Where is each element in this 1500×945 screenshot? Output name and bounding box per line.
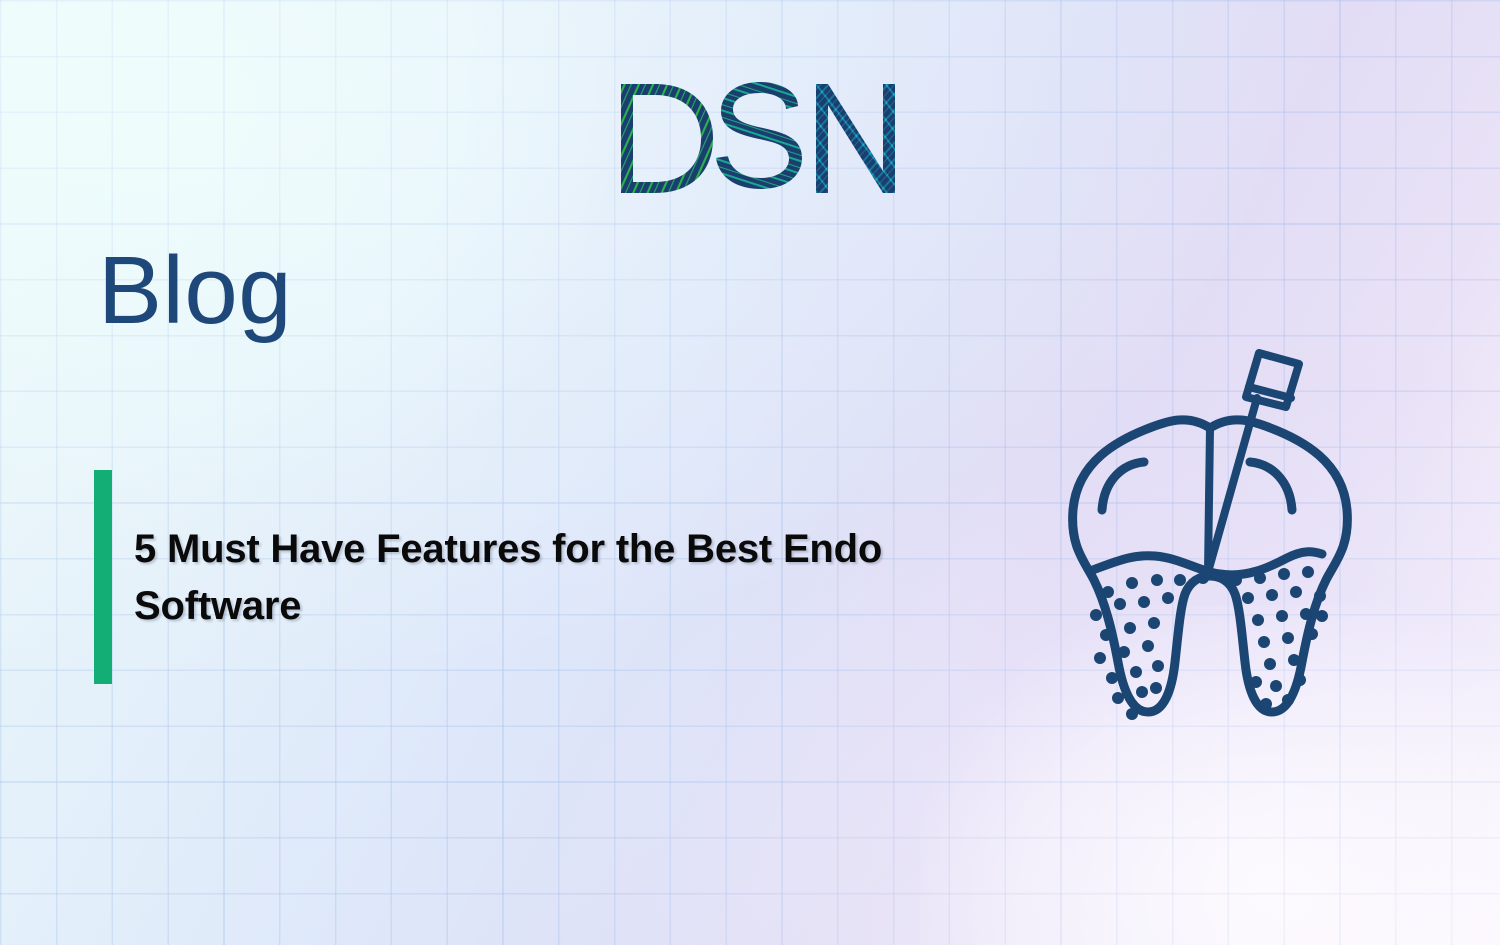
accent-bar xyxy=(94,470,112,684)
page-title: 5 Must Have Features for the Best Endo S… xyxy=(134,521,944,635)
logo-letter-s xyxy=(716,82,802,189)
dsn-logo xyxy=(613,76,903,201)
crown-highlight-arc-right xyxy=(1250,462,1292,510)
blog-card-canvas: Blog 5 Must Have Features for the Best E… xyxy=(0,0,1500,945)
crown-center-divider xyxy=(1208,428,1210,572)
logo-letter-d xyxy=(621,84,713,193)
background-glow-top-left xyxy=(0,0,620,520)
crown-highlight-arc-left xyxy=(1102,462,1144,510)
tooth-illustration xyxy=(1060,340,1360,722)
category-label: Blog xyxy=(98,243,292,339)
logo-letter-n xyxy=(816,84,895,193)
